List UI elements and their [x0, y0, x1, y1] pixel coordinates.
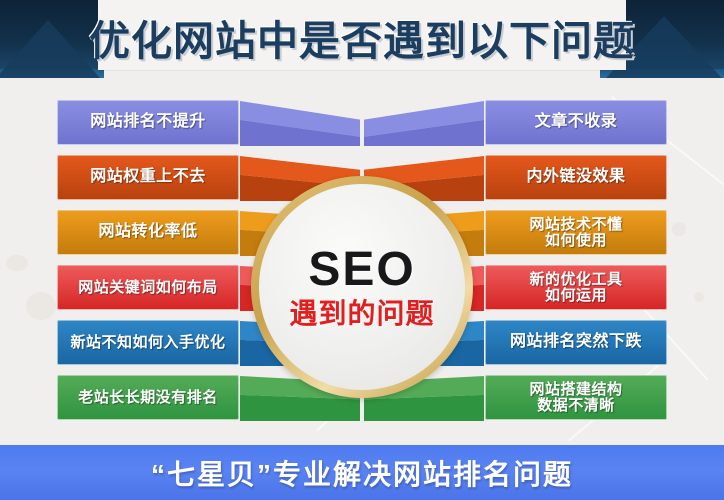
problem-item-label: 网站权重上不去	[86, 169, 210, 186]
bottom-banner: “七星贝”专业解决网站排名问题	[0, 445, 724, 500]
problem-item[interactable]: 老站长长期没有排名	[57, 375, 239, 420]
decor-blob	[672, 222, 686, 236]
right-problem-column: 文章不收录内外链没效果网站技术不懂 如何使用新的优化工具 如何运用网站排名突然下…	[485, 100, 667, 430]
problem-item[interactable]: 新站不知如何入手优化	[57, 320, 239, 365]
problem-item-label: 新的优化工具 如何运用	[525, 272, 626, 304]
problem-item-label: 内外链没效果	[522, 169, 629, 186]
problem-item-label: 网站关键词如何布局	[74, 280, 222, 296]
navy-ridge-right	[600, 69, 724, 78]
problem-item[interactable]: 网站搭建结构 数据不清晰	[485, 375, 667, 420]
problem-item-label: 新站不知如何入手优化	[66, 335, 229, 351]
decor-blob	[694, 292, 704, 302]
problem-item-label: 老站长长期没有排名	[74, 390, 222, 406]
problem-item-label: 网站技术不懂 如何使用	[525, 217, 626, 249]
problem-item-label: 网站转化率低	[94, 224, 201, 241]
banner-text: “七星贝”专业解决网站排名问题	[151, 453, 573, 493]
problem-item-arrow	[364, 101, 484, 146]
seo-problems-poster: 优化网站中是否遇到以下问题 网站排名不提升网站权重上不去网站转化率低网站关键词如…	[0, 0, 724, 500]
problem-item-label: 网站搭建结构 数据不清晰	[525, 382, 626, 414]
center-hub-ring: SEO 遇到的问题	[251, 176, 473, 398]
navy-ridge-left	[0, 69, 104, 78]
decor-blob	[6, 255, 28, 271]
hub-primary-label: SEO	[308, 246, 415, 294]
problem-item[interactable]: 网站关键词如何布局	[57, 265, 239, 310]
center-hub: SEO 遇到的问题	[259, 184, 465, 390]
problem-item[interactable]: 网站转化率低	[57, 210, 239, 255]
problem-item[interactable]: 网站排名突然下跌	[485, 320, 667, 365]
problem-item[interactable]: 网站技术不懂 如何使用	[485, 210, 667, 255]
left-problem-column: 网站排名不提升网站权重上不去网站转化率低网站关键词如何布局新站不知如何入手优化老…	[57, 100, 239, 430]
problem-item[interactable]: 内外链没效果	[485, 155, 667, 200]
problem-item[interactable]: 文章不收录	[485, 100, 667, 145]
page-title: 优化网站中是否遇到以下问题	[98, 8, 626, 66]
decor-blob	[26, 292, 56, 320]
problem-item[interactable]: 网站排名不提升	[57, 100, 239, 145]
problem-item-label: 文章不收录	[531, 114, 622, 131]
problem-item[interactable]: 网站权重上不去	[57, 155, 239, 200]
problem-item[interactable]: 新的优化工具 如何运用	[485, 265, 667, 310]
problem-item-label: 网站排名突然下跌	[506, 334, 646, 351]
problem-item-label: 网站排名不提升	[86, 114, 210, 131]
problem-item-arrow	[240, 101, 360, 146]
hub-secondary-label: 遇到的问题	[289, 300, 434, 328]
